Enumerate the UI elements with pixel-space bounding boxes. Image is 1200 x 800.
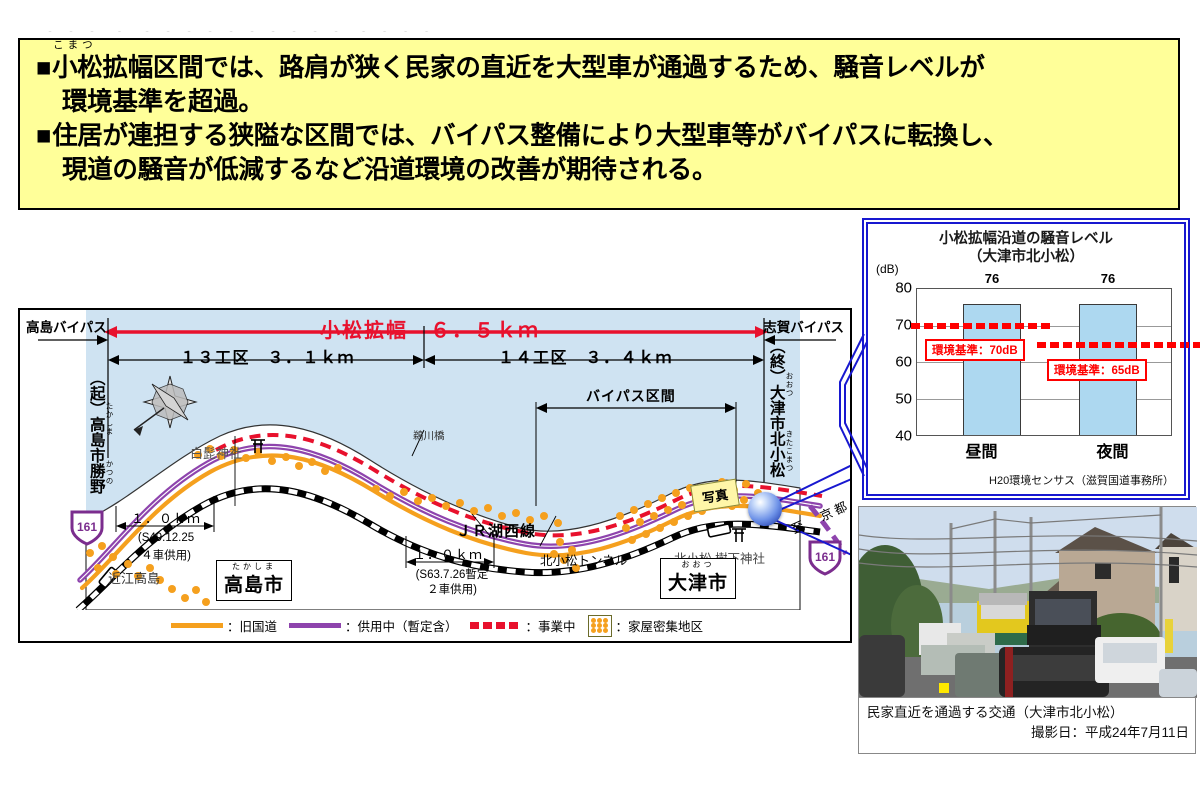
summary-line-1-head: 小松 <box>52 54 102 82</box>
ruby-komatsu: こまつ <box>53 39 97 53</box>
label-shirahige-shrine: 白髭神社 <box>190 443 242 462</box>
chart-title: 小松拡幅沿道の騒音レベル （大津市北小松） <box>870 230 1182 266</box>
chart-plot-area: 76 76 環境基準：70dB 環境基準：65dB <box>916 288 1172 436</box>
summary-line-2: ■ 住居が連担する狭隘な区間では、バイパス整備により大型車等がバイパスに転換し、 <box>36 120 1162 154</box>
label-takashima-bypass: 高島バイパス <box>26 316 107 336</box>
slide-root: ・・・ ・ ・・・・・・・・・・ ・・・・ ■ こまつ小松拡幅区間では、路肩が狭… <box>0 0 1200 800</box>
label-mid-1km: １．０ｋｍ <box>402 544 494 563</box>
legend-label-dense-housing: ：家屋密集地区 <box>616 616 704 635</box>
chart-unit-label: (dB) <box>876 262 899 276</box>
summary-callout-box: ■ こまつ小松拡幅区間では、路肩が狭く民家の直近を大型車が通過するため、騒音レベ… <box>18 38 1180 210</box>
y-tick-70: 70 <box>895 317 912 334</box>
photo-location-marker[interactable] <box>748 492 782 526</box>
photo-caption-line-1: 民家直近を通過する交通（大津市北小松） <box>867 703 1189 723</box>
chart-source-note: H20環境センサス（滋賀国道事務所） <box>989 472 1174 488</box>
label-mid-1km-sub2: ２車供用) <box>392 581 512 597</box>
label-bypass-section: バイパス区間 <box>586 386 676 406</box>
label-start-point: （起）高島市勝野 <box>88 370 104 520</box>
svg-text:161: 161 <box>815 550 835 564</box>
city-label-takashima: たかしま 高島市 <box>216 560 292 601</box>
label-left-1km-sub1: (S49.12.25 <box>110 532 222 544</box>
bullet-square-icon: ■ <box>36 52 51 86</box>
y-tick-60: 60 <box>895 354 912 371</box>
chart-title-main: 小松拡幅沿道の騒音レベル <box>870 230 1182 248</box>
legend-item-dense-housing: ：家屋密集地区 <box>588 615 704 637</box>
summary-line-2-text: 住居が連担する狭隘な区間では、バイパス整備により大型車等がバイパスに転換し、 <box>52 120 1162 154</box>
route-map-panel: 161 161 高島バイパス 志賀バイパス 小松拡幅 ６．５ｋｍ １３工区 ３．… <box>18 308 852 643</box>
summary-line-1-cont: 環境基準を超過。 <box>36 86 1162 120</box>
photo-caption-line-2: 撮影日：平成24年7月11日 <box>867 723 1189 743</box>
label-mid-1km-sub1: (S63.7.26暫定 <box>392 566 512 582</box>
chart-callout-tail <box>836 330 868 510</box>
x-tick-nighttime: 夜間 <box>1047 438 1178 462</box>
ref-line-65db <box>1037 342 1200 348</box>
label-end-point: （終）大津市北小松 <box>768 338 784 503</box>
label-corridor-komatsu-65km: 小松拡幅 ６．５ｋｍ <box>320 314 540 343</box>
y-tick-40: 40 <box>895 428 912 445</box>
legend-item-in-service: ：供用中（暫定含） <box>289 616 458 635</box>
chart-plot-wrapper: 80 70 60 50 40 76 76 <box>880 288 1176 436</box>
label-section-14: １４工区 ３．４ｋｍ <box>498 344 673 368</box>
y-tick-50: 50 <box>895 391 912 408</box>
x-tick-daytime: 昼間 <box>916 438 1047 462</box>
label-jr-kosei-line: ＪＲ湖西線 <box>456 520 536 541</box>
bullet-square-icon-2: ■ <box>36 120 51 154</box>
legend-item-under-construction: ：事業中 <box>470 616 576 635</box>
label-section-13: １３工区 ３．１ｋｍ <box>180 344 355 368</box>
label-shiga-bypass: 志賀バイパス <box>763 316 844 336</box>
photo-caption: 民家直近を通過する交通（大津市北小松） 撮影日：平成24年7月11日 <box>859 697 1197 755</box>
label-omi-takashima-station: 近江高島 <box>108 568 160 587</box>
map-legend: ：旧国道 ：供用中（暫定含） ：事業中 ：家屋密集地区 <box>20 610 852 641</box>
ghost-title-remnant: ・・・ ・ ・・・・・・・・・・ ・・・・ <box>40 18 438 32</box>
label-ukawa-bridge: 鵜川橋 <box>413 428 445 443</box>
city-label-otsu: おおつ 大津市 <box>660 558 736 599</box>
traffic-photo-panel: 民家直近を通過する交通（大津市北小松） 撮影日：平成24年7月11日 <box>858 506 1196 754</box>
legend-swatch-purple-line <box>289 623 341 628</box>
ruby-takashima-start: たかしま <box>104 402 115 436</box>
ruby-otsu-city: おおつ <box>668 561 728 569</box>
legend-label-under-construction: ：事業中 <box>526 616 576 635</box>
ruby-katsuno: かつの <box>104 460 115 486</box>
compass-rose-icon <box>134 376 196 436</box>
legend-swatch-red-dash <box>470 622 522 629</box>
legend-swatch-orange-dots <box>588 615 612 637</box>
ruby-takashima-city: たかしま <box>224 563 284 571</box>
legend-swatch-orange-line <box>171 623 223 628</box>
label-kitakomatsu-tunnel: 北小松トンネル <box>540 550 627 569</box>
summary-line-1-text: こまつ小松拡幅区間では、路肩が狭く民家の直近を大型車が通過するため、騒音レベルが <box>52 52 1162 86</box>
traffic-photo-image <box>859 507 1197 697</box>
photo-illustration <box>859 507 1197 697</box>
ref-line-70db <box>911 323 1053 329</box>
legend-label-in-service: ：供用中（暫定含） <box>345 616 458 635</box>
chart-title-sub: （大津市北小松） <box>870 248 1182 266</box>
summary-line-1: ■ こまつ小松拡幅区間では、路肩が狭く民家の直近を大型車が通過するため、騒音レベ… <box>36 52 1162 86</box>
label-left-1km: １．０ｋｍ <box>120 508 212 527</box>
bar-value-nighttime: 76 <box>1079 271 1137 286</box>
summary-line-1-rest: 拡幅区間では、路肩が狭く民家の直近を大型車が通過するため、騒音レベルが <box>103 54 985 82</box>
label-left-1km-sub2: ４車供用) <box>110 547 222 563</box>
legend-item-old-national-road: ：旧国道 <box>171 616 277 635</box>
chart-x-axis: 昼間 夜間 <box>916 438 1178 462</box>
summary-line-2-cont: 現道の騒音が低減するなど沿道環境の改善が期待される。 <box>36 154 1162 188</box>
y-tick-80: 80 <box>895 280 912 297</box>
chart-y-axis: 80 70 60 50 40 <box>880 288 914 436</box>
bar-value-daytime: 76 <box>963 271 1021 286</box>
ref-label-65db: 環境基準：65dB <box>1047 359 1147 381</box>
svg-text:161: 161 <box>77 520 97 534</box>
legend-label-old-national-road: ：旧国道 <box>227 616 277 635</box>
ref-label-70db: 環境基準：70dB <box>925 339 1025 361</box>
ruby-kitakomatsu: きたこまつ <box>784 430 795 473</box>
noise-level-chart-panel: 小松拡幅沿道の騒音レベル （大津市北小松） (dB) 80 70 60 50 4… <box>862 218 1190 500</box>
ruby-otsu: おおつ <box>784 372 795 398</box>
chart-inner: 小松拡幅沿道の騒音レベル （大津市北小松） (dB) 80 70 60 50 4… <box>870 226 1182 492</box>
